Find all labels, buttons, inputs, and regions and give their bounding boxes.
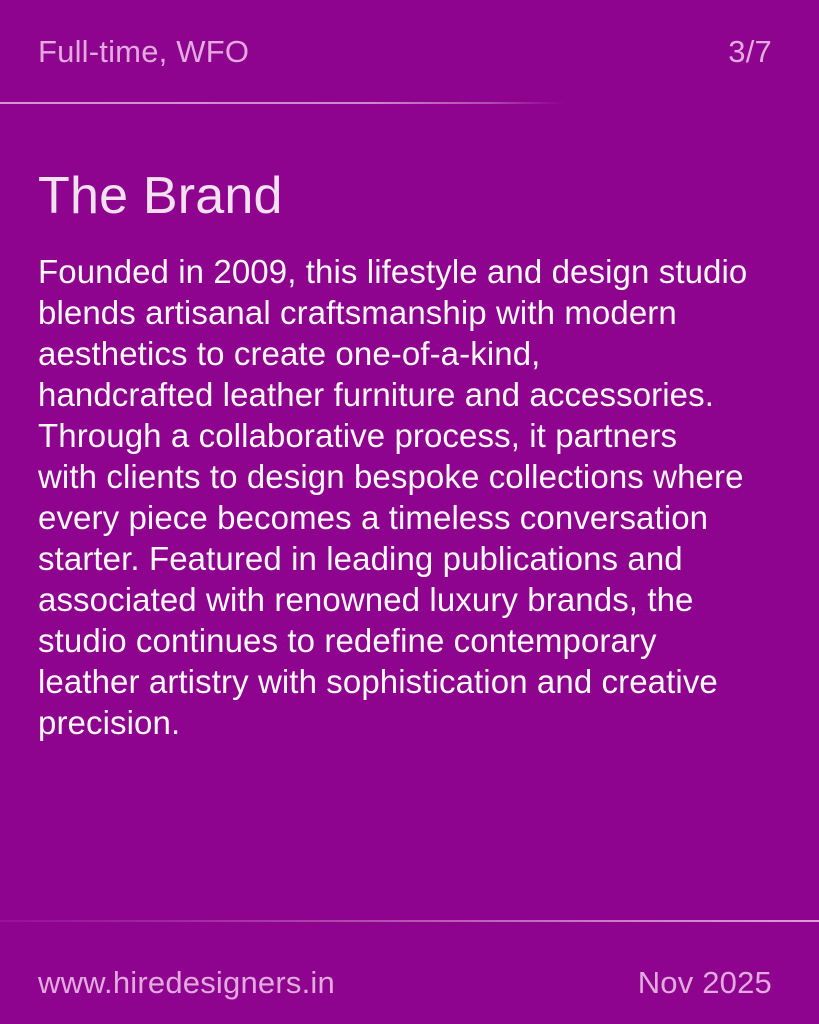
slide-header: Full-time, WFO 3/7 [0, 0, 819, 103]
body-line: every piece becomes a timeless conversat… [38, 497, 772, 538]
slide-card: Full-time, WFO 3/7 The Brand Founded in … [0, 0, 819, 1024]
footer-divider [0, 920, 819, 922]
body-line: starter. Featured in leading publication… [38, 538, 772, 579]
body-line: with clients to design bespoke collectio… [38, 456, 772, 497]
website-url[interactable]: www.hiredesigners.in [38, 967, 335, 998]
body-line: Through a collaborative process, it part… [38, 415, 772, 456]
slide-counter: 3/7 [728, 36, 772, 67]
brand-description: Founded in 2009, this lifestyle and desi… [38, 222, 772, 743]
slide-footer: www.hiredesigners.in Nov 2025 [0, 940, 819, 1024]
slide-content: The Brand Founded in 2009, this lifestyl… [0, 103, 819, 743]
body-line: associated with renowned luxury brands, … [38, 579, 772, 620]
body-line: handcrafted leather furniture and access… [38, 374, 772, 415]
body-line: studio continues to redefine contemporar… [38, 620, 772, 661]
body-line: blends artisanal craftsmanship with mode… [38, 292, 772, 333]
body-line: Founded in 2009, this lifestyle and desi… [38, 251, 772, 292]
publish-date: Nov 2025 [638, 967, 772, 998]
job-type-label: Full-time, WFO [38, 36, 249, 67]
body-line: precision. [38, 702, 772, 743]
page-title: The Brand [38, 103, 772, 222]
body-line: aesthetics to create one-of-a-kind, [38, 333, 772, 374]
body-line: leather artistry with sophistication and… [38, 661, 772, 702]
